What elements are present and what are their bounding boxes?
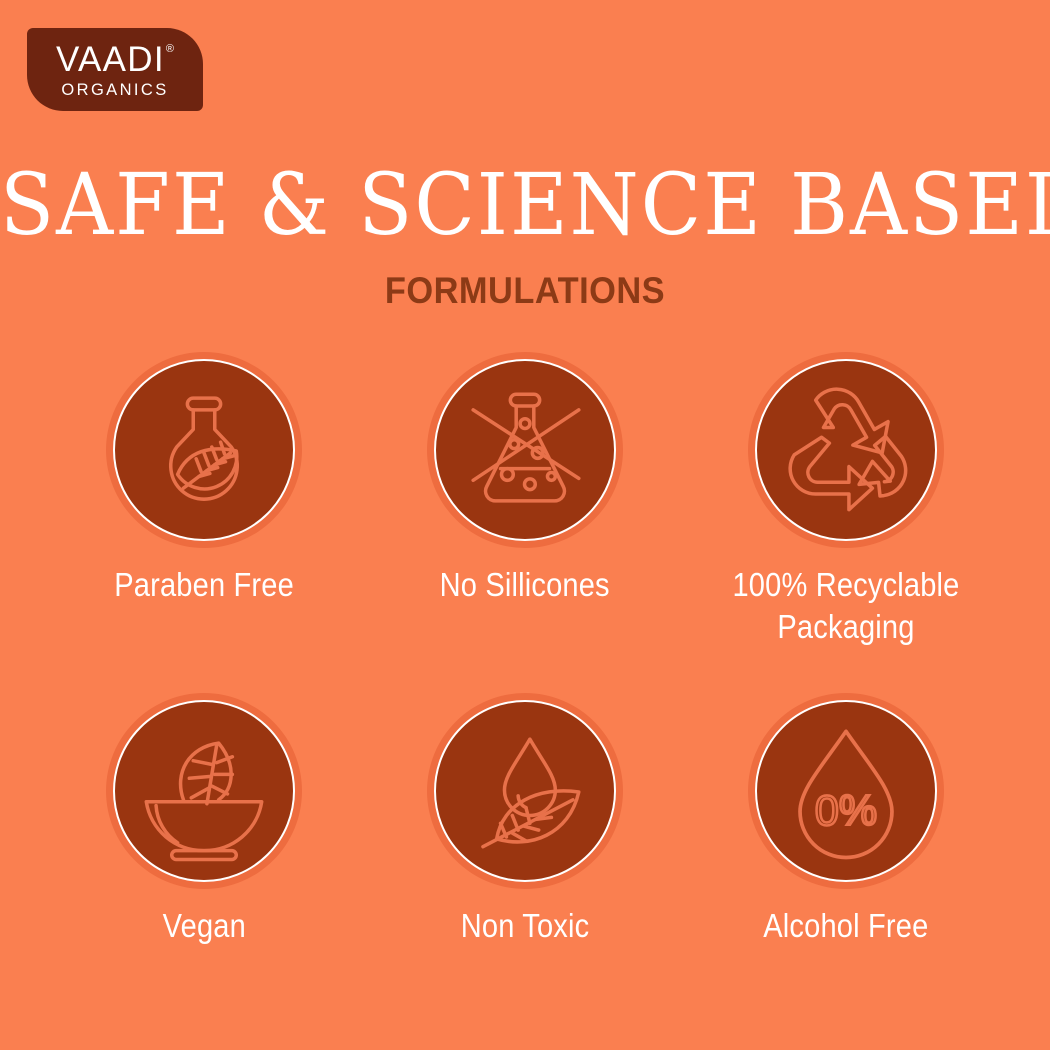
brand-name-row: VAADI ®: [56, 42, 174, 77]
registered-trademark-icon: ®: [166, 44, 174, 55]
badge-label: 100% Recyclable Packaging: [714, 564, 978, 647]
badge-face: 0%: [755, 700, 937, 882]
badge-label: Paraben Free: [114, 564, 294, 606]
feature-badge-recyclable-packaging: 100% Recyclable Packaging: [685, 352, 1006, 647]
badge-medallion: [748, 352, 944, 548]
brand-tagline: ORGANICS: [61, 82, 168, 99]
badge-face: [434, 700, 616, 882]
badge-label: Vegan: [163, 905, 246, 947]
badge-medallion: [427, 693, 623, 889]
badge-medallion: [106, 352, 302, 548]
badge-medallion: [427, 352, 623, 548]
feature-badge-paraben-free: Paraben Free: [44, 352, 365, 647]
feature-badge-grid: Paraben Free: [44, 352, 1006, 947]
feature-badge-no-silicones: No Sillicones: [365, 352, 686, 647]
badge-label: Non Toxic: [461, 905, 590, 947]
page-subtitle: FORMULATIONS: [37, 272, 1014, 309]
page-title: SAFE & SCIENCE BASED: [0, 163, 1050, 248]
droplet-with-leaf-icon: [436, 702, 614, 880]
badge-label: Alcohol Free: [763, 905, 928, 947]
badge-face: [113, 700, 295, 882]
recycling-arrows-icon: [757, 361, 935, 539]
no-silicones-flask-crossed-icon: [436, 361, 614, 539]
badge-medallion: 0%: [748, 693, 944, 889]
flask-with-leaf-icon: [115, 361, 293, 539]
badge-medallion: [106, 693, 302, 889]
badge-label: No Sillicones: [440, 564, 610, 606]
badge-face: [434, 359, 616, 541]
droplet-zero-percent-icon: 0%: [757, 702, 935, 880]
badge-face: [113, 359, 295, 541]
feature-badge-vegan: Vegan: [44, 693, 365, 947]
brand-logo: VAADI ® ORGANICS: [27, 28, 203, 111]
bowl-with-leaf-icon: [115, 702, 293, 880]
badge-face: [755, 359, 937, 541]
brand-name: VAADI: [56, 42, 165, 77]
feature-badge-alcohol-free: 0% Alcohol Free: [685, 693, 1006, 947]
zero-percent-label: 0%: [815, 787, 877, 835]
feature-badge-non-toxic: Non Toxic: [365, 693, 686, 947]
